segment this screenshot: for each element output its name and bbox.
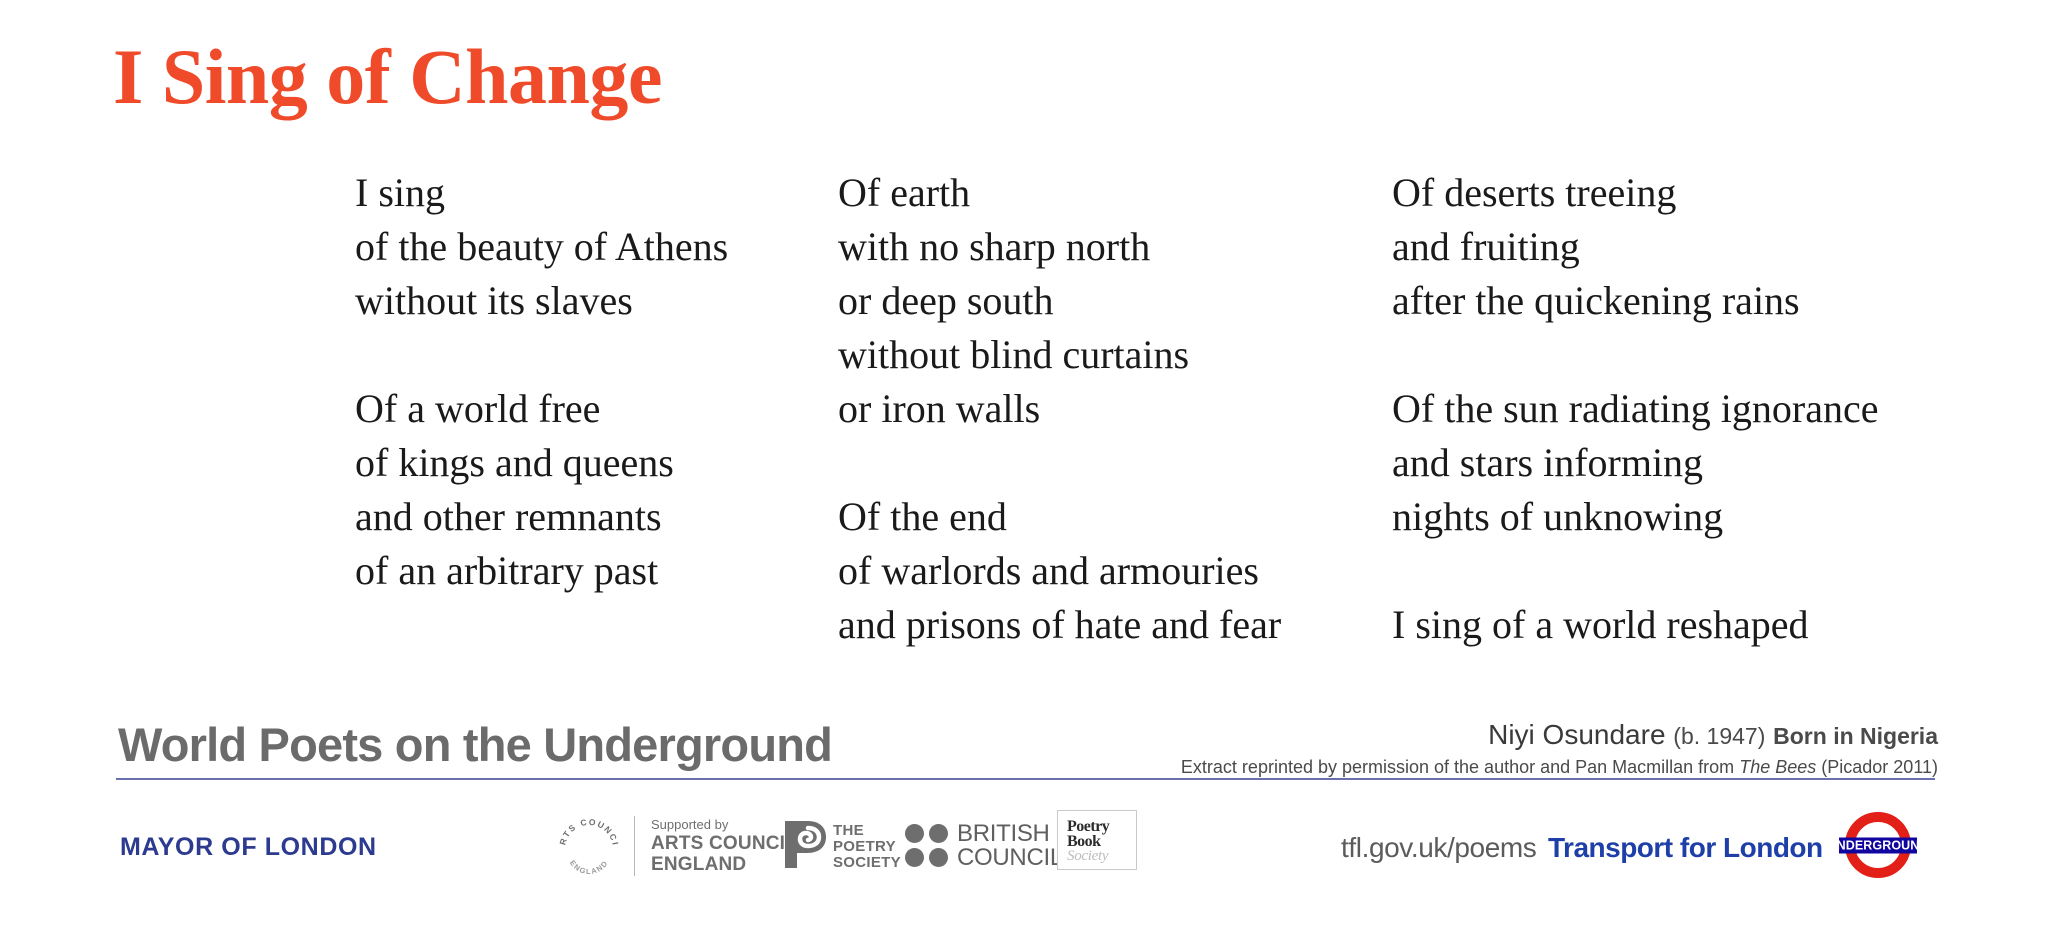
poetry-book-society-wordmark: Poetry Book Society	[1067, 819, 1109, 864]
author-name: Niyi Osundare	[1488, 719, 1665, 750]
arts-council-name-line-1: ARTS COUNCIL	[651, 833, 797, 854]
permission-prefix: Extract reprinted by permission of the a…	[1181, 757, 1734, 777]
arts-council-name-line-2: ENGLAND	[651, 854, 797, 875]
svg-text:ENGLAND: ENGLAND	[568, 858, 610, 876]
poem-line: Of deserts treeing	[1392, 166, 1879, 220]
poem-line: of kings and queens	[355, 436, 728, 490]
poem-line: after the quickening rains	[1392, 274, 1879, 328]
arts-council-divider	[634, 816, 635, 876]
page-title: I Sing of Change	[113, 38, 662, 116]
poem-line: and fruiting	[1392, 220, 1879, 274]
poem-body: I sing of the beauty of Athens without i…	[0, 166, 2048, 566]
british-council-dots-icon	[905, 824, 949, 868]
svg-text:ARTS COUNCIL: ARTS COUNCIL	[558, 816, 620, 847]
poem-line: or deep south	[838, 274, 1281, 328]
bc-dot-3	[905, 848, 924, 867]
poetry-society-line-1: THE	[833, 823, 901, 839]
british-council-line-2: COUNCIL	[957, 846, 1063, 870]
poem-line: of an arbitrary past	[355, 544, 728, 598]
arts-council-wordmark: Supported by ARTS COUNCIL ENGLAND	[651, 817, 797, 875]
poem-column-2: Of earth with no sharp north or deep sou…	[838, 166, 1281, 652]
poetry-society-line-2: POETRY	[833, 839, 901, 855]
mayor-of-london-logo: MAYOR OF LONDON	[120, 833, 377, 862]
poetry-society-wordmark: THE POETRY SOCIETY	[833, 823, 901, 871]
author-dates: (b. 1947)	[1673, 723, 1765, 749]
poem-line: nights of unknowing	[1392, 490, 1879, 544]
poem-line: Of the end	[838, 490, 1281, 544]
poem-line: and other remnants	[355, 490, 728, 544]
poem-credit: Niyi Osundare (b. 1947) Born in Nigeria …	[1181, 718, 1938, 779]
british-council-wordmark: BRITISH COUNCIL	[957, 822, 1063, 870]
credit-author-line: Niyi Osundare (b. 1947) Born in Nigeria	[1181, 718, 1938, 753]
transport-for-london-wordmark: Transport for London	[1548, 832, 1823, 864]
poem-line: without blind curtains	[838, 328, 1281, 382]
roundel-label: UNDERGROUND	[1835, 839, 1921, 853]
poem-line: I sing	[355, 166, 728, 220]
poem-column-3: Of deserts treeing and fruiting after th…	[1392, 166, 1879, 652]
underground-roundel-icon: UNDERGROUND	[1835, 810, 1921, 880]
poem-line: of the beauty of Athens	[355, 220, 728, 274]
arts-council-england-logo: ARTS COUNCIL ENGLAND Supported by ARTS C…	[558, 808, 763, 886]
british-council-line-1: BRITISH	[957, 822, 1063, 846]
pbs-line-3: Society	[1067, 849, 1109, 864]
poem-line: Of earth	[838, 166, 1281, 220]
credit-permission-line: Extract reprinted by permission of the a…	[1181, 756, 1938, 779]
british-council-logo: BRITISH COUNCIL	[905, 818, 1045, 876]
bc-dot-1	[905, 824, 924, 843]
poem-line: or iron walls	[838, 382, 1281, 436]
poetry-book-society-logo: Poetry Book Society	[1057, 810, 1137, 870]
poem-line: of warlords and armouries	[838, 544, 1281, 598]
permission-book-title: The Bees	[1739, 757, 1816, 777]
poem-line: Of a world free	[355, 382, 728, 436]
tfl-poems-url[interactable]: tfl.gov.uk/poems	[1341, 832, 1536, 864]
poem-line: I sing of a world reshaped	[1392, 598, 1879, 652]
poetry-society-line-3: SOCIETY	[833, 855, 901, 871]
bc-dot-4	[929, 848, 948, 867]
poem-line: and prisons of hate and fear	[838, 598, 1281, 652]
arts-council-roundel-icon: ARTS COUNCIL ENGLAND	[558, 816, 620, 878]
series-brand-title: World Poets on the Underground	[118, 721, 832, 768]
poems-on-the-underground-poster: I Sing of Change I sing of the beauty of…	[0, 0, 2048, 938]
poem-line: and stars informing	[1392, 436, 1879, 490]
poem-line: without its slaves	[355, 274, 728, 328]
poetry-society-logo: THE POETRY SOCIETY	[782, 816, 902, 878]
poem-line: with no sharp north	[838, 220, 1281, 274]
poster-footer: World Poets on the Underground Niyi Osun…	[0, 700, 2048, 938]
pbs-line-1: Poetry	[1067, 819, 1109, 834]
pbs-line-2: Book	[1067, 834, 1109, 849]
poem-column-1: I sing of the beauty of Athens without i…	[355, 166, 728, 598]
bc-dot-2	[929, 824, 948, 843]
poem-line: Of the sun radiating ignorance	[1392, 382, 1879, 436]
author-origin: Born in Nigeria	[1773, 723, 1938, 749]
supported-by-label: Supported by	[651, 817, 797, 833]
poetry-society-p-icon	[782, 818, 828, 873]
permission-suffix: (Picador 2011)	[1821, 757, 1938, 777]
footer-divider-rule	[116, 778, 1935, 780]
sponsor-logo-row: MAYOR OF LONDON ARTS COUNCIL ENGLAND	[0, 800, 2048, 910]
